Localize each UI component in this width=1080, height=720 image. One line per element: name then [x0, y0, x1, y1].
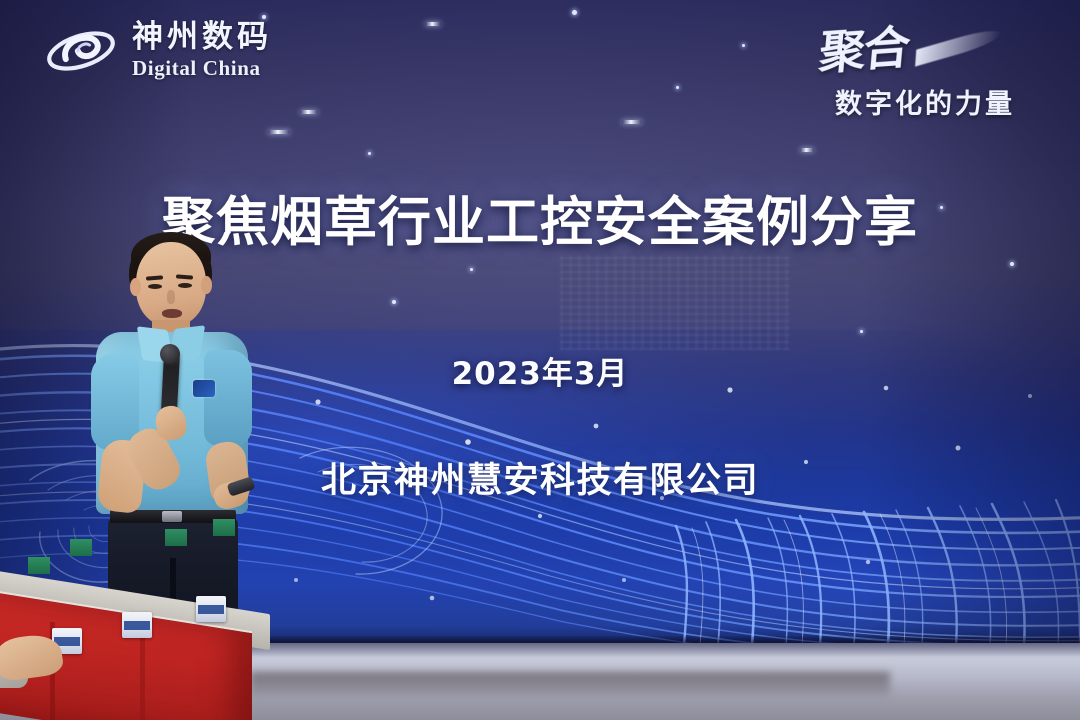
light-streak: [268, 130, 290, 134]
light-dot: [470, 268, 473, 271]
brand-name-en: Digital China: [132, 58, 272, 79]
light-streak: [425, 22, 441, 26]
name-card-band: [198, 605, 224, 614]
light-streak: [800, 148, 814, 152]
presenter-eye-left: [148, 284, 162, 289]
presenter-eye-right: [178, 283, 192, 288]
conference-stage-photo: 神州数码 Digital China 聚合 数字化的力量 聚焦烟草行业工控安全案…: [0, 0, 1080, 720]
presenter-mouth: [162, 309, 182, 318]
light-dot: [742, 44, 745, 47]
digital-china-logo: 神州数码 Digital China: [44, 22, 272, 79]
microphone-head-icon: [160, 344, 180, 364]
light-dot: [1010, 262, 1014, 266]
event-calligraphy-cn: 聚合: [817, 11, 912, 83]
name-card: [122, 612, 152, 638]
light-dot: [572, 10, 577, 15]
slide-watermark-texture: [560, 255, 790, 350]
presenter-ear-right: [201, 276, 212, 294]
name-card-band: [124, 621, 150, 630]
table-skirt-fold: [140, 630, 145, 720]
digital-china-swoosh-icon: [44, 23, 118, 79]
event-slogan-cn: 数字化的力量: [796, 82, 1054, 121]
presenter-nose: [167, 290, 175, 304]
light-streak: [622, 120, 642, 124]
light-dot: [676, 86, 679, 89]
presenter-chest-logo-icon: [193, 380, 215, 397]
event-logo: 聚合 数字化的力量: [796, 18, 1054, 121]
presenter-sleeve-right: [204, 350, 252, 446]
presenter-belt-buckle: [162, 511, 182, 522]
calligraphy-wrap: 聚合: [796, 18, 1054, 80]
light-dot: [392, 300, 396, 304]
bottle-label: [165, 529, 187, 546]
bottle-label: [70, 539, 92, 556]
light-dot: [860, 330, 863, 333]
brush-stroke-tail-icon: [915, 25, 1001, 66]
brand-name-cn: 神州数码: [132, 22, 272, 53]
light-dot: [368, 152, 371, 155]
light-streak: [300, 110, 318, 114]
name-card: [196, 596, 226, 622]
bottle-label: [213, 519, 235, 536]
presenter-ear-left: [130, 278, 141, 296]
stage-floor-band: [250, 672, 890, 696]
